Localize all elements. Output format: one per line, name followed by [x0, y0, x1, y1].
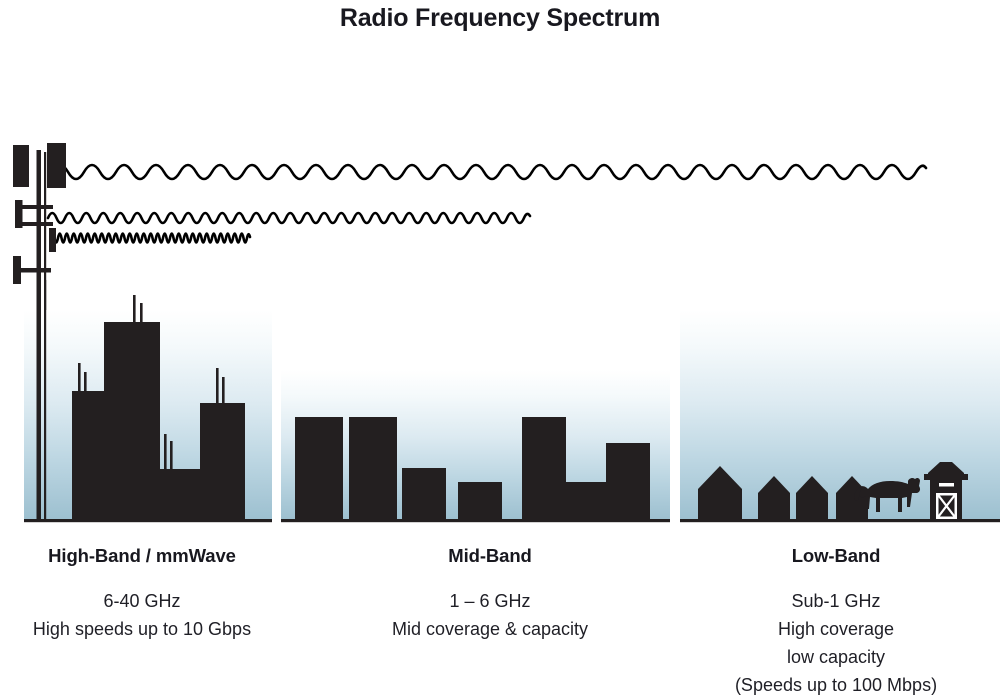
skyscraper: [104, 322, 160, 519]
band-desc-mid-band: 1 – 6 GHz Mid coverage & capacity: [330, 587, 650, 643]
antenna-panel-1: [13, 145, 29, 187]
band-desc-high-band: 6-40 GHz High speeds up to 10 Gbps: [0, 587, 284, 643]
band-block-mid-band: Mid-Band 1 – 6 GHz Mid coverage & capaci…: [330, 545, 650, 643]
antenna-panel-2: [47, 143, 66, 188]
band-title-high-band: High-Band / mmWave: [0, 545, 284, 567]
skyscraper-spire: [222, 377, 225, 404]
mid-band-wave: [48, 213, 530, 223]
ground-line: [24, 519, 1000, 522]
skyscraper-spire: [216, 368, 219, 404]
band-title-mid-band: Mid-Band: [330, 545, 650, 567]
band-speed-low-band: (Speeds up to 100 Mbps): [672, 671, 1000, 699]
building: [522, 417, 566, 519]
skyscraper-spire: [164, 434, 167, 470]
radio-waves: [48, 165, 926, 243]
band-capacity-low-band: low capacity: [672, 643, 1000, 671]
building: [458, 482, 502, 519]
antenna-crossarm-2: [15, 222, 53, 226]
band-desc-low-band: Sub-1 GHz High coverage low capacity (Sp…: [672, 587, 1000, 699]
building: [402, 468, 446, 519]
band-frequency-mid-band: 1 – 6 GHz: [330, 587, 650, 615]
barn-window: [939, 483, 954, 487]
band-title-low-band: Low-Band: [672, 545, 1000, 567]
building: [295, 417, 343, 519]
building: [349, 417, 397, 519]
high-band-wave: [51, 234, 250, 243]
band-speed-mid-band: Mid coverage & capacity: [330, 615, 650, 643]
band-block-low-band: Low-Band Sub-1 GHz High coverage low cap…: [672, 545, 1000, 699]
band-frequency-low-band: Sub-1 GHz: [672, 587, 1000, 615]
ground-line-mid-band: [281, 519, 670, 522]
band-labels: High-Band / mmWave 6-40 GHz High speeds …: [0, 545, 1000, 700]
ground-line-high-band: [24, 519, 272, 522]
band-coverage-low-band: High coverage: [672, 615, 1000, 643]
band-block-high-band: High-Band / mmWave 6-40 GHz High speeds …: [0, 545, 284, 643]
skyscraper-spire: [170, 441, 173, 470]
skyscraper-spire: [78, 363, 81, 395]
antenna-crossarm-3: [13, 268, 51, 273]
building: [566, 482, 606, 519]
antenna-panel-4: [49, 228, 56, 252]
band-frequency-high-band: 6-40 GHz: [0, 587, 284, 615]
building: [606, 443, 650, 519]
skyscraper: [200, 403, 245, 519]
skyscraper-spire: [133, 295, 136, 325]
low-band-wave: [52, 165, 926, 179]
antenna-crossarm-1: [15, 205, 53, 209]
skyscraper-spire: [140, 303, 143, 325]
band-speed-high-band: High speeds up to 10 Gbps: [0, 615, 284, 643]
tower-stub: [44, 280, 46, 310]
ground-line-low-band: [680, 519, 1000, 522]
